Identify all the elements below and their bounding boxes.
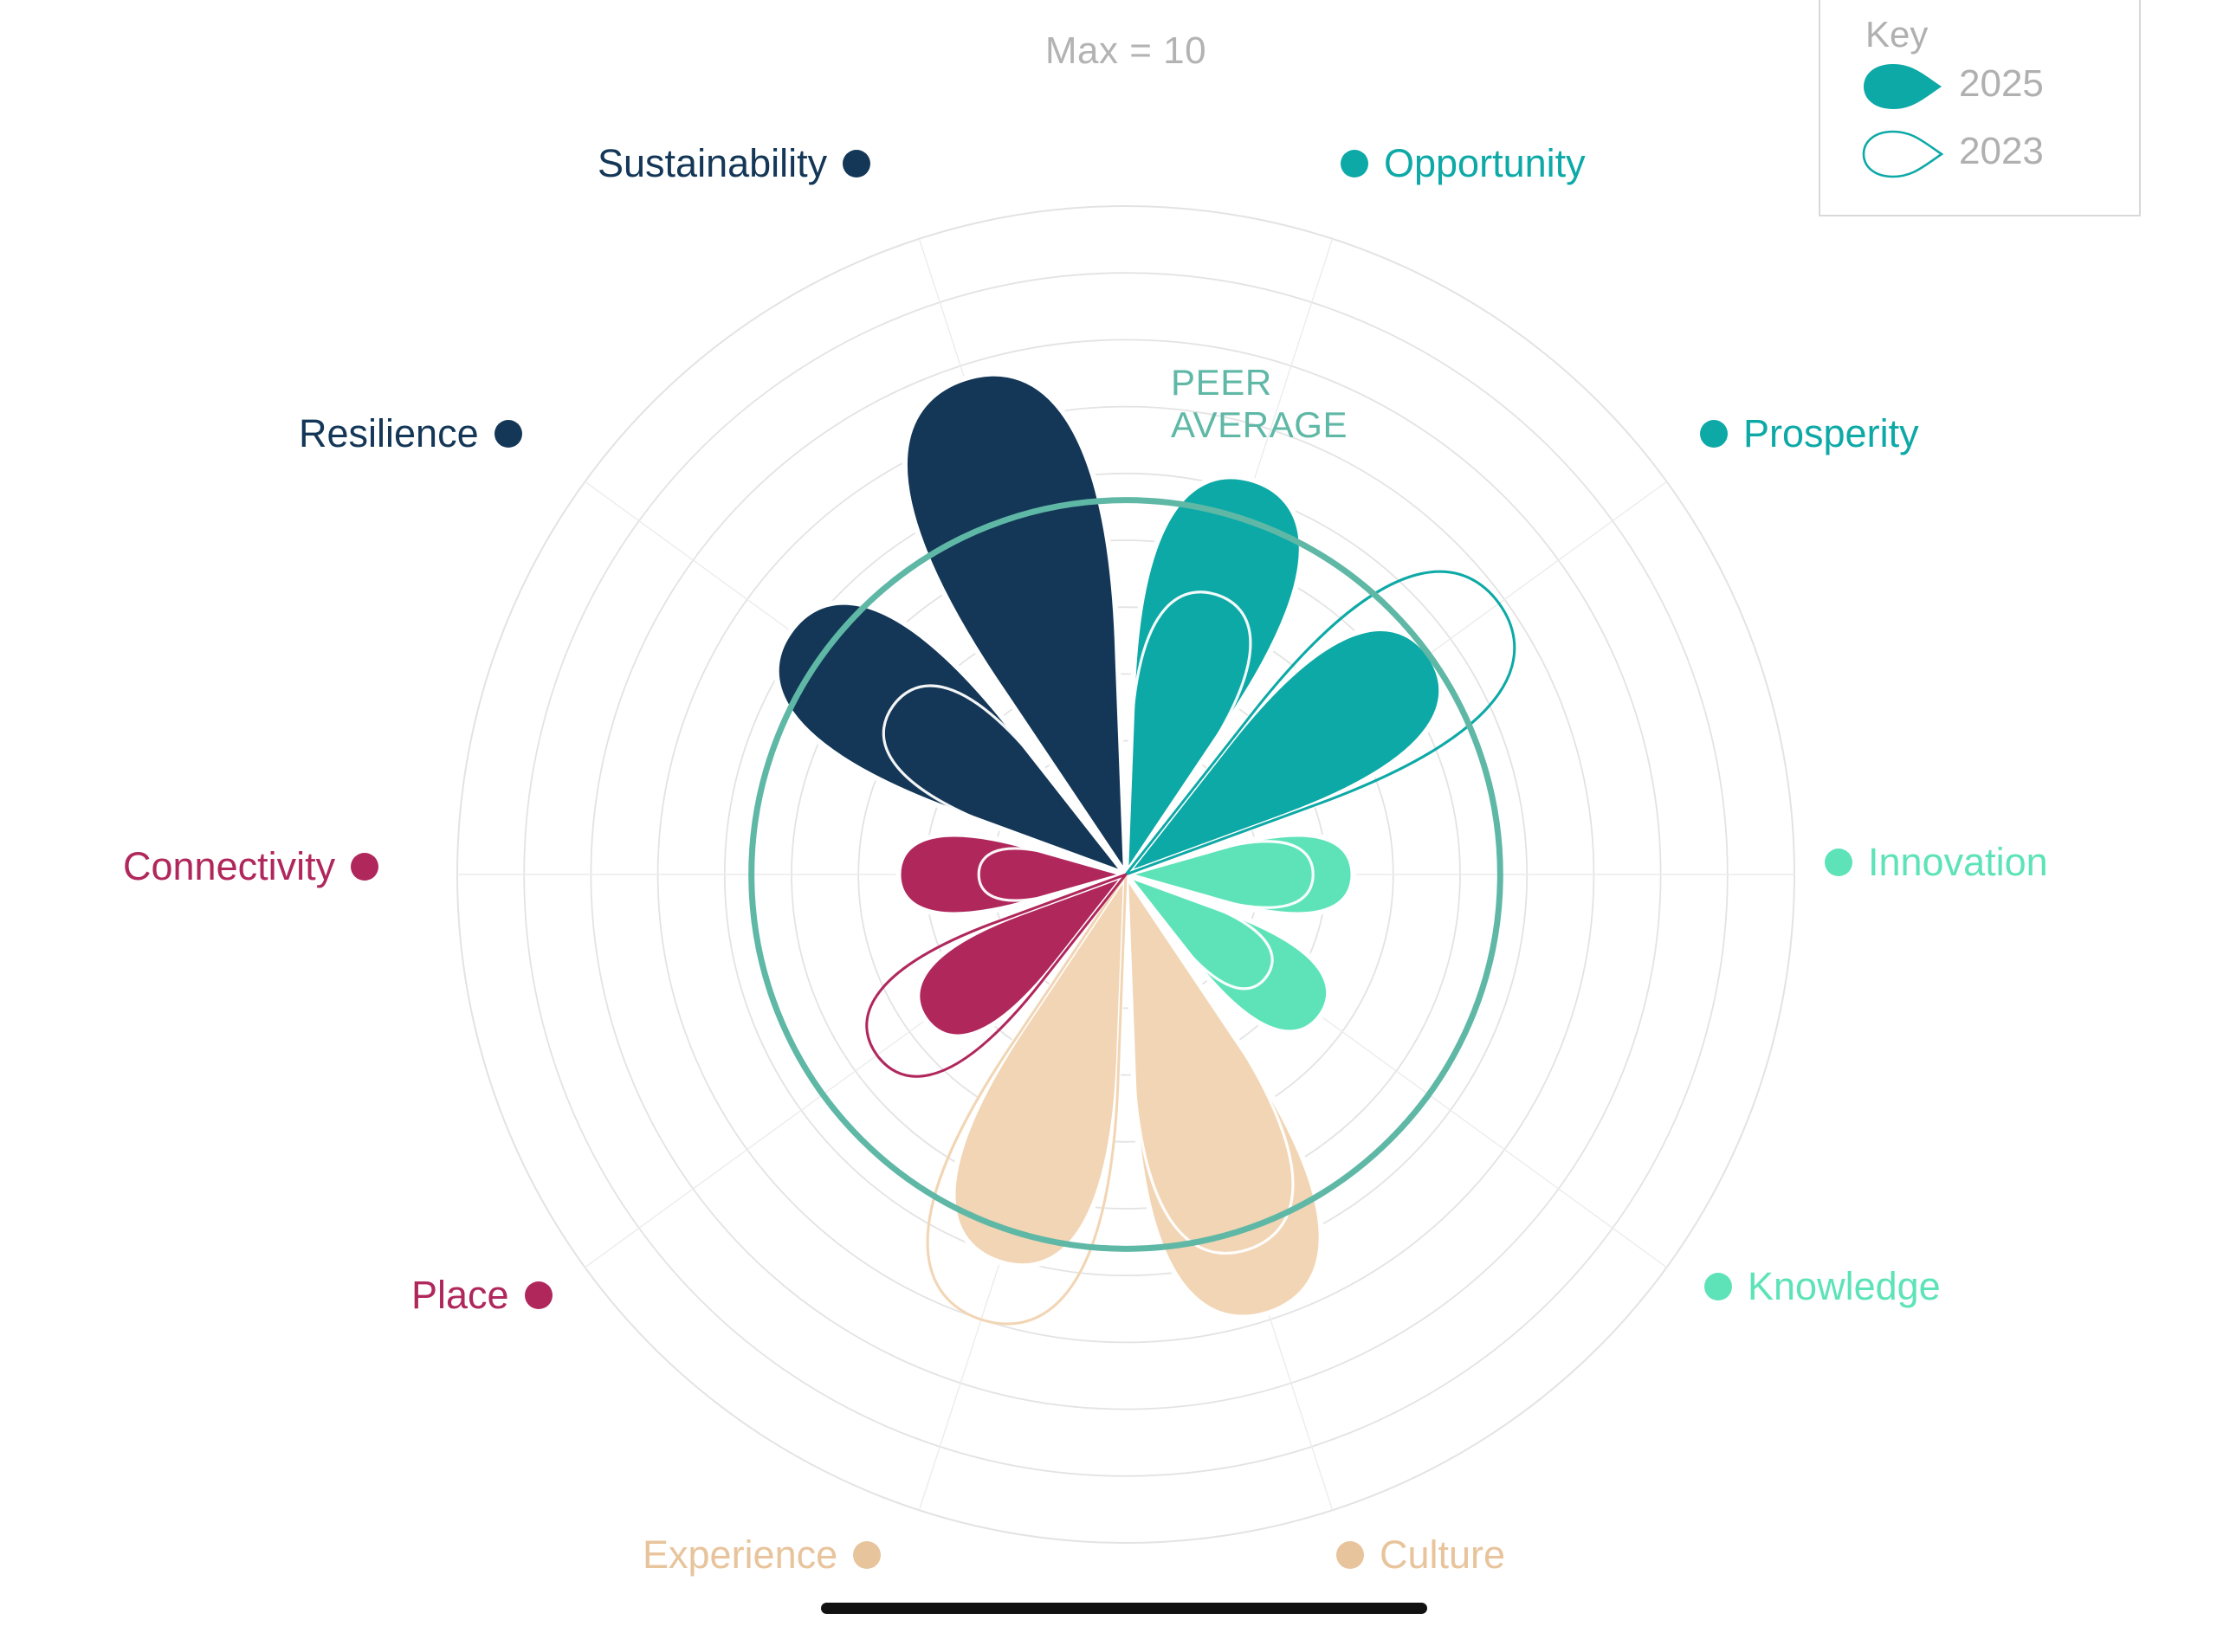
axis-dot-knowledge	[1704, 1273, 1732, 1300]
axis-label-place[interactable]: Place	[411, 1273, 553, 1318]
axis-dot-place	[525, 1281, 553, 1309]
axis-label-sustainability[interactable]: Sustainability	[598, 141, 870, 186]
home-indicator-bar	[821, 1603, 1427, 1614]
axis-label-place-text: Place	[411, 1273, 509, 1318]
key-title: Key	[1865, 14, 1928, 55]
axis-label-prosperity[interactable]: Prosperity	[1700, 411, 1919, 456]
axis-label-experience-text: Experience	[643, 1533, 837, 1578]
peer-average-line1: PEER	[1171, 362, 1348, 404]
axis-label-innovation-text: Innovation	[1868, 840, 2048, 885]
max-scale-label: Max = 10	[1022, 29, 1230, 73]
peer-average-annotation: PEER AVERAGE	[1171, 362, 1348, 446]
petal-radar-chart	[0, 0, 2217, 1652]
key-item-2025[interactable]: 2025	[1862, 62, 2044, 106]
axis-dot-culture	[1336, 1541, 1364, 1569]
chart-key-panel: Key 2025 2023	[1819, 0, 2141, 216]
chart-page: Max = 10 Key 2025 2023 PEER AVERAGE Sust…	[0, 0, 2217, 1652]
axis-label-opportunity-text: Opportunity	[1384, 141, 1586, 186]
axis-label-sustainability-text: Sustainability	[598, 141, 827, 186]
key-label-2025: 2025	[1959, 62, 2044, 106]
axis-label-innovation[interactable]: Innovation	[1825, 840, 2048, 885]
axis-dot-opportunity	[1341, 150, 1368, 177]
key-item-2023[interactable]: 2023	[1862, 130, 2044, 173]
axis-label-opportunity[interactable]: Opportunity	[1341, 141, 1586, 186]
axis-label-resilience-text: Resilience	[299, 411, 479, 456]
axis-label-resilience[interactable]: Resilience	[299, 411, 522, 456]
axis-label-prosperity-text: Prosperity	[1743, 411, 1919, 456]
peer-average-line2: AVERAGE	[1171, 404, 1348, 447]
axis-dot-resilience	[494, 420, 522, 448]
axis-label-culture[interactable]: Culture	[1336, 1533, 1505, 1578]
axis-label-connectivity-text: Connectivity	[123, 844, 335, 889]
petals-2025	[777, 374, 1515, 1324]
axis-dot-innovation	[1825, 849, 1852, 876]
axis-dot-prosperity	[1700, 420, 1728, 448]
key-label-2023: 2023	[1959, 130, 2044, 173]
petal-filled-icon	[1862, 62, 1945, 111]
axis-dot-connectivity	[351, 853, 378, 881]
axis-label-culture-text: Culture	[1380, 1533, 1505, 1578]
axis-dot-sustainability	[843, 150, 870, 177]
axis-label-experience[interactable]: Experience	[643, 1533, 881, 1578]
axis-label-knowledge[interactable]: Knowledge	[1704, 1264, 1941, 1309]
axis-label-knowledge-text: Knowledge	[1748, 1264, 1941, 1309]
petal-outline-icon	[1862, 130, 1945, 178]
axis-label-connectivity[interactable]: Connectivity	[123, 844, 378, 889]
axis-dot-experience	[853, 1541, 881, 1569]
